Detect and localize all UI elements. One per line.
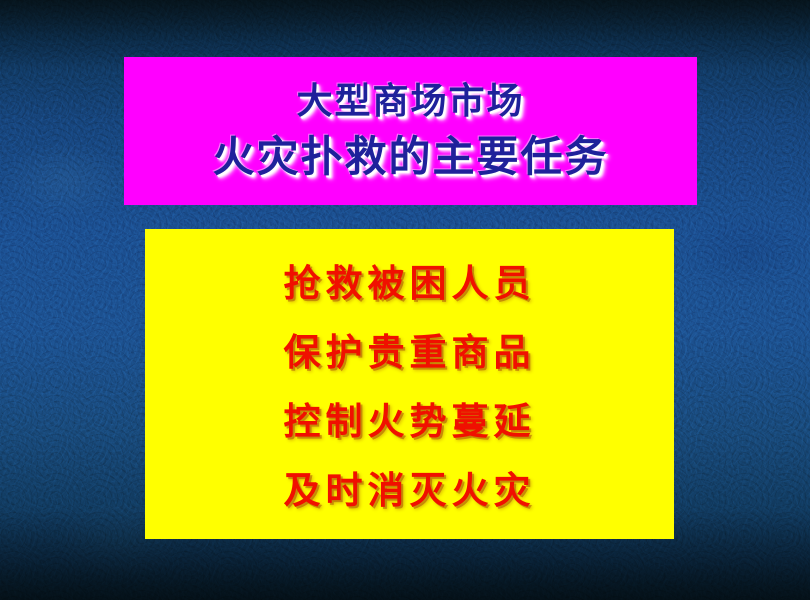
body-line-4: 及时消灭火灾 [284,472,536,509]
body-line-2: 保护贵重商品 [284,334,536,371]
body-panel: 抢救被困人员 保护贵重商品 控制火势蔓延 及时消灭火灾 [145,229,674,539]
body-line-1: 抢救被困人员 [284,265,536,302]
title-line-2: 火灾扑救的主要任务 [212,136,608,178]
body-line-3: 控制火势蔓延 [284,403,536,440]
title-line-1: 大型商场市场 [296,84,524,120]
presentation-slide: 大型商场市场 火灾扑救的主要任务 抢救被困人员 保护贵重商品 控制火势蔓延 及时… [0,0,810,600]
title-panel: 大型商场市场 火灾扑救的主要任务 [124,57,697,205]
